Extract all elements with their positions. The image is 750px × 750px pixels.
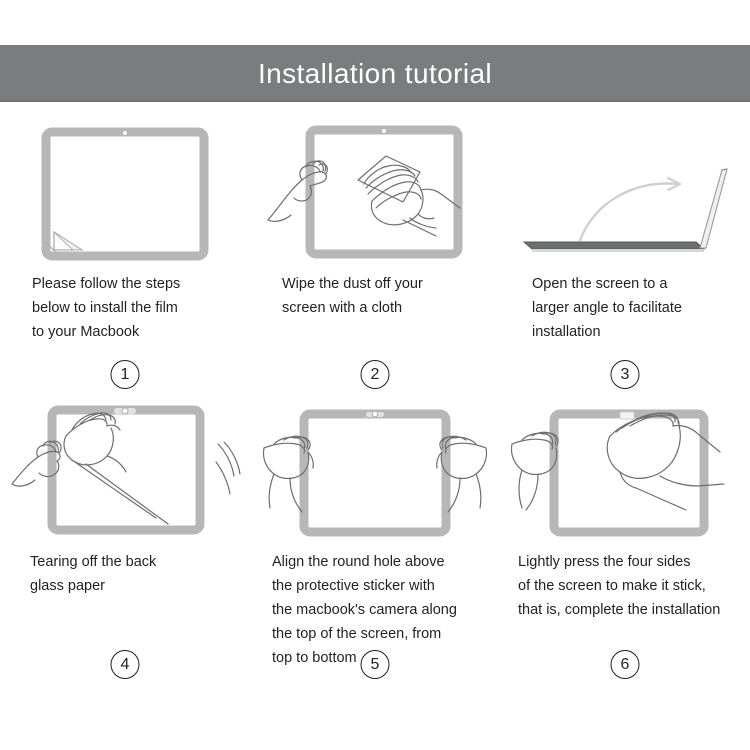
step-line: installation [532, 320, 732, 344]
step-cell-3: Open the screen to a larger angle to fac… [500, 120, 750, 398]
step-line: the top of the screen, from [272, 622, 488, 646]
step-number-badge-2: 2 [361, 360, 390, 389]
step-line: Tearing off the back [30, 550, 242, 574]
palm-pressing-screen-edges-icon [510, 402, 740, 538]
step-cell-4: Tearing off the back glass paper 4 [0, 398, 250, 698]
hand-wiping-screen-with-cloth-icon [260, 124, 490, 260]
step-description-4: Tearing off the back glass paper [30, 550, 242, 598]
step-description-1: Please follow the steps below to install… [32, 272, 232, 344]
step-description-6: Lightly press the four sides of the scre… [518, 550, 746, 622]
step-line: screen with a cloth [282, 296, 482, 320]
step-number-badge-6: 6 [611, 650, 640, 679]
step-cell-5: Align the round hole above the protectiv… [250, 398, 500, 698]
hands-tearing-back-paper-icon [10, 402, 240, 538]
page-title: Installation tutorial [258, 60, 492, 88]
step-line: larger angle to facilitate [532, 296, 732, 320]
step-cell-2: Wipe the dust off your screen with a clo… [250, 120, 500, 398]
step-line: Open the screen to a [532, 272, 732, 296]
step-line: that is, complete the installation [518, 598, 746, 622]
step-line: Wipe the dust off your [282, 272, 482, 296]
step-description-3: Open the screen to a larger angle to fac… [532, 272, 732, 344]
step-line: Align the round hole above [272, 550, 488, 574]
step-number-badge-3: 3 [611, 360, 640, 389]
step-number-badge-4: 4 [111, 650, 140, 679]
step-line: the protective sticker with [272, 574, 488, 598]
header-band: Installation tutorial [0, 45, 750, 102]
step-line: the macbook's camera along [272, 598, 488, 622]
steps-grid: Please follow the steps below to install… [0, 120, 750, 698]
step-line: to your Macbook [32, 320, 232, 344]
step-number-badge-5: 5 [361, 650, 390, 679]
step-line: below to install the film [32, 296, 232, 320]
step-line: glass paper [30, 574, 242, 598]
laptop-opening-angle-icon [510, 124, 740, 260]
step-line: Please follow the steps [32, 272, 232, 296]
screen-with-peeling-corner-icon [10, 124, 240, 260]
step-line: of the screen to make it stick, [518, 574, 746, 598]
step-description-2: Wipe the dust off your screen with a clo… [282, 272, 482, 320]
step-number-badge-1: 1 [111, 360, 140, 389]
step-line: Lightly press the four sides [518, 550, 746, 574]
step-cell-1: Please follow the steps below to install… [0, 120, 250, 398]
step-cell-6: Lightly press the four sides of the scre… [500, 398, 750, 698]
two-hands-aligning-film-icon [260, 402, 490, 538]
